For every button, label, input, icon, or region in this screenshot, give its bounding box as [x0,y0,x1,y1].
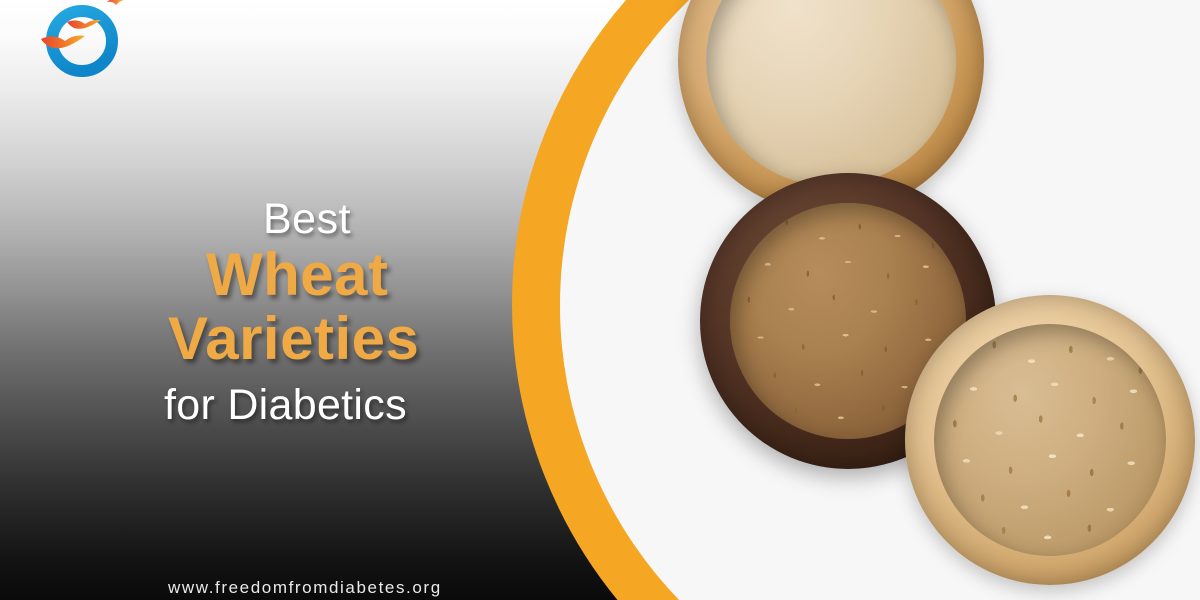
freedom-from-diabetes-logo[interactable] [33,0,137,89]
grain-fill-tan [934,324,1166,556]
bowl-of-wheat-grains-light [905,295,1195,585]
headline-line-best: Best [263,198,538,241]
bird-icon [107,0,124,5]
page-title: Best Wheat Varieties for Diabetics [168,198,538,427]
headline-line-for-diabetics: for Diabetics [164,384,538,427]
website-url[interactable]: www.freedomfromdiabetes.org [168,578,442,598]
grain-texture [706,0,957,186]
bird-icon [67,20,101,29]
headline-line-varieties: Varieties [168,307,538,370]
headline-line-wheat: Wheat [206,245,538,305]
grain-fill-pale [706,0,957,186]
promo-banner: Best Wheat Varieties for Diabetics www.f… [0,0,1200,600]
grain-texture [934,324,1166,556]
